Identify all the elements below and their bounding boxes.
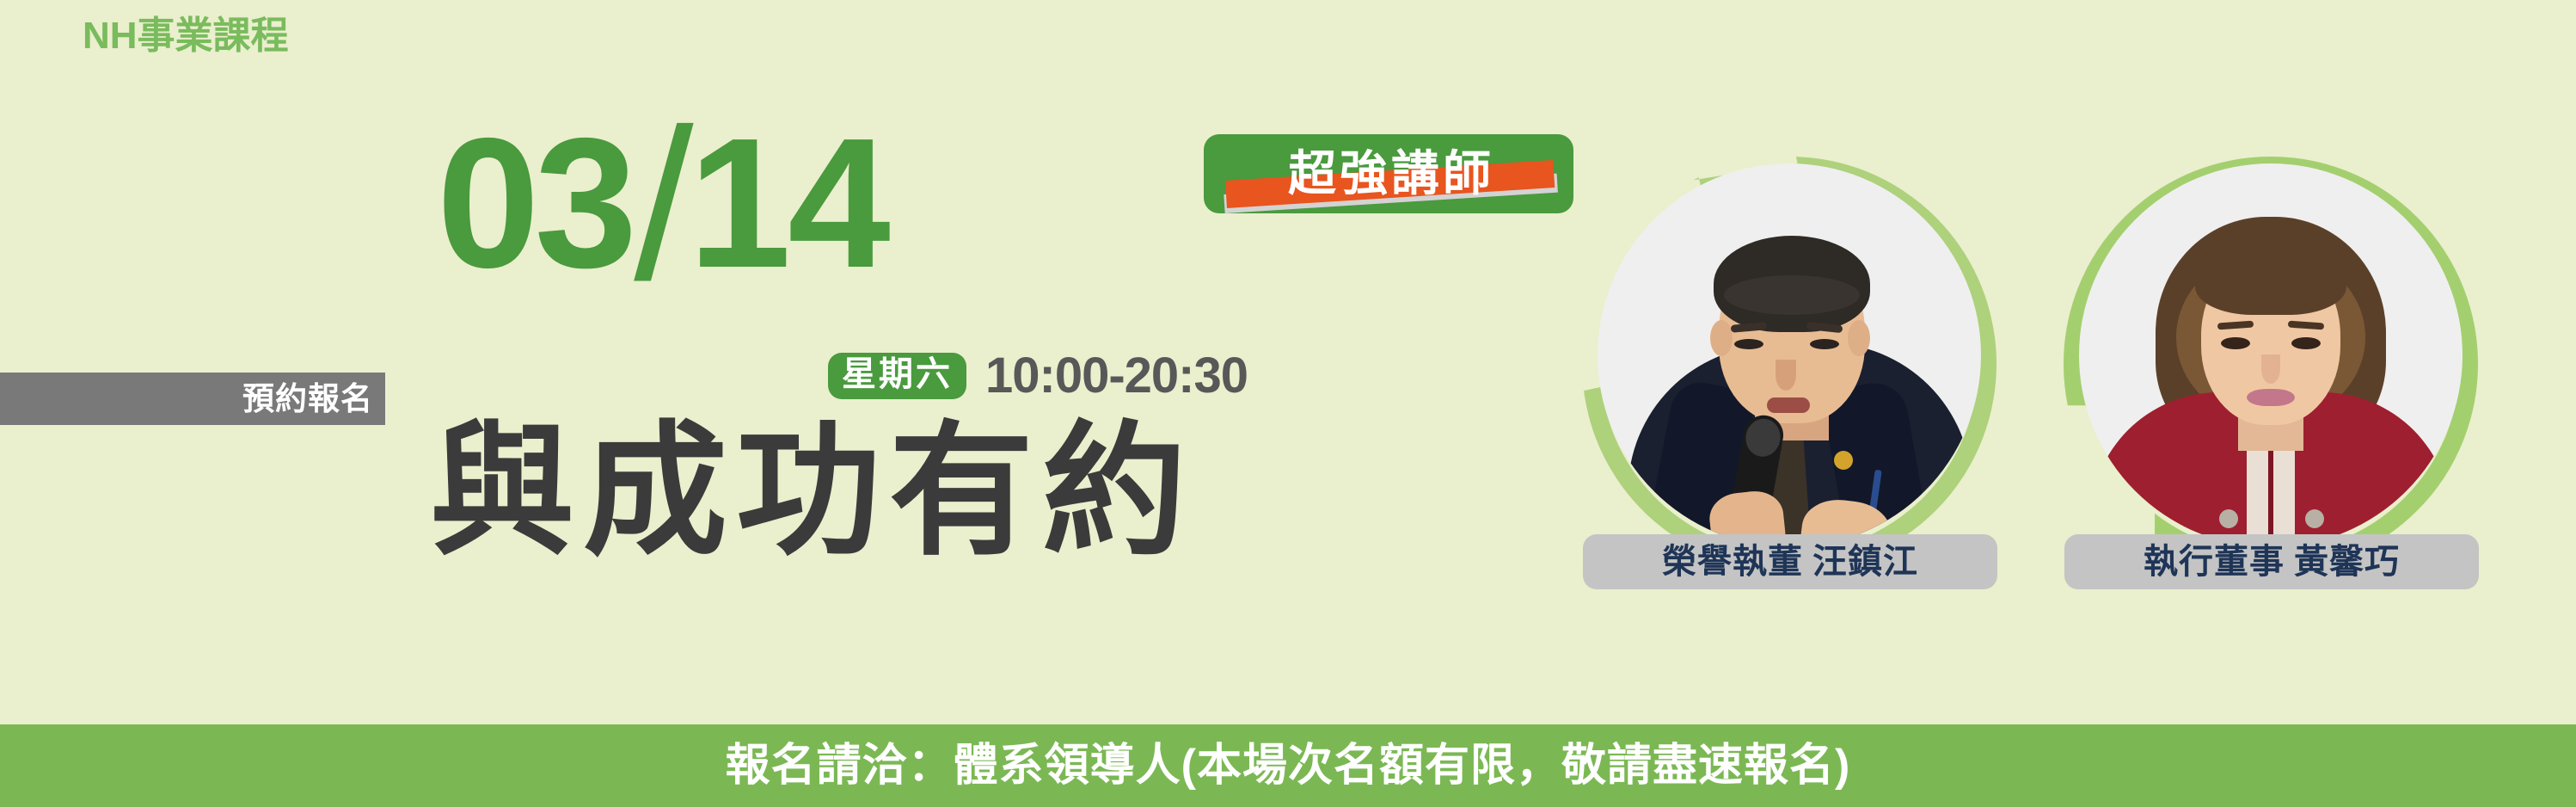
speaker-avatar-2	[2079, 163, 2463, 547]
weekday-pill: 星期六	[828, 353, 966, 399]
avatar2-eye-right	[2291, 337, 2321, 349]
speaker-card-1	[1582, 157, 1996, 571]
footer-text: 報名請洽：體系領導人(本場次名額有限，敬請盡速報名)	[726, 743, 1851, 788]
avatar2-button-right	[2305, 509, 2324, 528]
speaker-photo-wrap-2	[2064, 157, 2478, 571]
avatar-ear-right	[1848, 320, 1870, 356]
badge-label: 超強講師	[1204, 134, 1573, 213]
avatar2-nose	[2261, 354, 2280, 384]
reserve-strip: 預約報名	[0, 373, 385, 425]
page-title: 與成功有約	[430, 410, 1195, 572]
top-speaker-badge: 超強講師	[1204, 134, 1573, 213]
speaker-name-pill-2: 執行董事 黃馨巧	[2064, 534, 2479, 589]
avatar-lapel-pin	[1834, 451, 1853, 470]
avatar-ear-left	[1710, 320, 1733, 356]
avatar2-lips	[2247, 389, 2295, 406]
speaker-photo-wrap-1	[1582, 157, 1996, 571]
date-day: 14	[689, 127, 887, 279]
avatar-nose	[1776, 360, 1796, 391]
reserve-label: 預約報名	[242, 383, 373, 415]
speaker-avatar-1	[1598, 163, 1981, 547]
avatar2-button-left	[2219, 509, 2238, 528]
date-separator: /	[634, 127, 693, 282]
event-time-row: 星期六 10:00-20:30	[828, 351, 1248, 401]
date-month: 03	[437, 127, 632, 279]
avatar-eye-right	[1810, 339, 1839, 349]
avatar-mouth	[1767, 397, 1810, 413]
avatar-hair	[1714, 236, 1870, 332]
event-time: 10:00-20:30	[985, 351, 1248, 401]
brand-logo: NH事業課程	[83, 14, 289, 59]
speaker-card-2	[2064, 157, 2478, 571]
avatar-eye-left	[1734, 339, 1763, 349]
speaker-name-pill-1: 榮譽執董 汪鎮江	[1583, 534, 1997, 589]
avatar2-eye-left	[2221, 337, 2250, 349]
event-banner: NH事業課程 預約報名 03 / 14 星期六 10:00-20:30 與成功有…	[0, 0, 2576, 807]
footer-bar: 報名請洽：體系領導人(本場次名額有限，敬請盡速報名)	[0, 724, 2576, 807]
event-date: 03 / 14	[437, 127, 887, 299]
avatar2-fringe	[2195, 241, 2346, 315]
